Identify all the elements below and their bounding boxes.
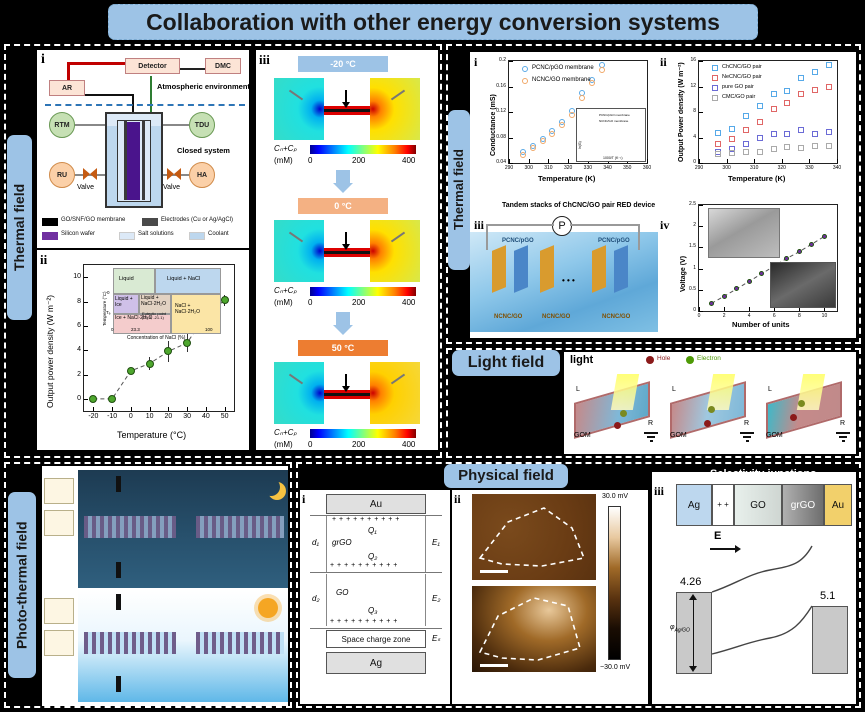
chart-ii-legend-marker-0 bbox=[712, 65, 718, 71]
temp-chip-1: 0 °C bbox=[298, 198, 388, 214]
membrane-day-right bbox=[196, 632, 284, 654]
chart-thermal-right-ii: 2903003103203303400481216 bbox=[698, 60, 838, 164]
light-device-2-right: R bbox=[840, 420, 845, 427]
tandem-wire-r bbox=[638, 224, 640, 250]
ground-icon-0-c bbox=[650, 440, 653, 442]
tandem-top-label-1: PCNC/pGO bbox=[598, 238, 630, 244]
data-point bbox=[809, 242, 814, 247]
colorbar-label-2: Cₙ+Cₚ bbox=[274, 428, 297, 437]
data-point bbox=[784, 100, 790, 106]
layer-grgo-q1: Q₁ bbox=[368, 526, 377, 535]
x-tick-label: 10 bbox=[141, 413, 159, 420]
chart-i-ylabel: Conductance (mS) bbox=[490, 72, 497, 156]
chart-i-inset-ylabel: ln(G) bbox=[578, 119, 582, 149]
panel-label-i: i bbox=[41, 52, 45, 68]
ground-icon-0 bbox=[644, 432, 658, 434]
light-device-1-material: GOM bbox=[670, 432, 687, 439]
valve-left-icon-2 bbox=[90, 168, 97, 180]
tandem-plate-0 bbox=[492, 245, 506, 293]
phase-region-4: NaCl + NaCl·2H₂O bbox=[175, 304, 215, 315]
tandem-plate-3 bbox=[592, 245, 606, 293]
flow-arrow-0 bbox=[336, 170, 350, 184]
section-label-thermal-left: Thermal field bbox=[7, 135, 32, 320]
data-point bbox=[798, 75, 804, 81]
phase-xtick-0: 0 bbox=[111, 327, 114, 332]
chart-iv-inset-device-photo bbox=[770, 262, 836, 308]
x-tick-label: 360 bbox=[638, 165, 656, 171]
light-device-0-material: GOM bbox=[574, 432, 591, 439]
legend-swatch-2 bbox=[42, 232, 58, 240]
y-tick-label: 16 bbox=[687, 57, 696, 63]
chart-i-inset-legend-1: NCNC/GO membrane bbox=[599, 119, 628, 123]
work-function-left: 4.26 bbox=[680, 576, 701, 588]
legend-label-2: Silicon wafer bbox=[61, 231, 95, 237]
divider-d1-bottom bbox=[310, 572, 442, 573]
data-point bbox=[757, 119, 763, 125]
section-label-physical: Physical field bbox=[444, 464, 568, 488]
legend-label-4: Coolant bbox=[208, 231, 229, 237]
data-point bbox=[569, 112, 575, 118]
chart-i-legend-1: NCNC/GO membrane bbox=[532, 77, 591, 83]
data-point bbox=[784, 131, 790, 137]
light-device-2: L R GOM bbox=[760, 370, 852, 448]
x-tick-label: 6 bbox=[765, 313, 783, 319]
layer-grgo-q2: Q₂ bbox=[368, 552, 377, 561]
node-tdu[interactable]: TDU bbox=[189, 112, 215, 138]
panel-label-i-right: i bbox=[474, 55, 477, 70]
x-tick-label: 350 bbox=[618, 165, 636, 171]
ground-icon-2 bbox=[836, 432, 850, 434]
sim-field-0 bbox=[274, 78, 420, 140]
y-tick-label: 0 bbox=[685, 307, 696, 313]
colorbar-label-1: Cₙ+Cₚ bbox=[274, 286, 297, 295]
colorbar-tick-1-1: 200 bbox=[352, 298, 365, 307]
data-point bbox=[540, 138, 546, 144]
y-tick-label: 0.2 bbox=[491, 57, 506, 63]
colorbar-unit-1: (mM) bbox=[274, 298, 293, 307]
colorbar-unit-2: (mM) bbox=[274, 440, 293, 449]
colorbar-tick-0-1: 200 bbox=[352, 156, 365, 165]
afm-scale-bottom: −30.0 mV bbox=[600, 664, 630, 671]
panel-label-iii: iii bbox=[259, 52, 270, 68]
x-tick-label: 40 bbox=[197, 413, 215, 420]
ground-icon-1-c bbox=[746, 440, 749, 442]
data-point bbox=[812, 143, 818, 149]
afm-image-bottom bbox=[472, 586, 596, 672]
chart-iv-ylabel: Voltage (V) bbox=[680, 228, 687, 292]
chart-ii-legend-0: ChCNC/GO pair bbox=[722, 64, 762, 70]
sim-field-1 bbox=[274, 220, 420, 282]
field-label-E: E bbox=[714, 530, 721, 542]
field-arrow-E-head bbox=[735, 545, 741, 553]
colorbar-tick-1-2: 400 bbox=[402, 298, 415, 307]
thermal-left-panel-i: i Detector DMC AR Atmospheric environmen… bbox=[37, 50, 249, 230]
x-tick-label: 0 bbox=[690, 313, 708, 319]
tandem-plate-1 bbox=[514, 245, 528, 293]
data-point bbox=[729, 136, 735, 142]
field-arrow-E bbox=[710, 548, 736, 550]
colorbar-0 bbox=[310, 145, 416, 154]
phase-ytick-1: Tₑ bbox=[106, 310, 110, 315]
colorbar-tick-2-0: 0 bbox=[308, 440, 312, 449]
colorbar-label-0: Cₙ+Cₚ bbox=[274, 144, 297, 153]
ground-icon-0-b bbox=[647, 436, 655, 438]
colorbar-tick-2-2: 400 bbox=[402, 440, 415, 449]
tandem-top-label-0: PCNC/pGO bbox=[502, 238, 534, 244]
x-tick-label: 320 bbox=[559, 165, 577, 171]
label-atmospheric-environment: Atmospheric environment bbox=[157, 82, 250, 91]
y-tick-label: 2 bbox=[68, 371, 81, 378]
phase-region-1: Liquid + NaCl bbox=[167, 276, 200, 282]
meter-P: P bbox=[552, 216, 572, 236]
legend-electron-marker bbox=[686, 356, 694, 364]
photothermal-inset-1 bbox=[44, 510, 74, 536]
node-dmc[interactable]: DMC bbox=[205, 58, 241, 74]
data-point bbox=[599, 67, 605, 73]
photothermal-inset-2 bbox=[44, 598, 74, 624]
light-device-2-left: L bbox=[768, 386, 772, 393]
physical-panel-iii: iii Selectivity junctions Ag + + GO grGO… bbox=[652, 472, 856, 704]
wire-detector-top bbox=[67, 62, 127, 65]
temp-chip-2: 50 °C bbox=[298, 340, 388, 356]
data-point bbox=[826, 62, 832, 68]
thermal-left-panel-iii: iii -20 °C Cₙ+Cₚ (mM) 0 200 400 0 °C Cₙ+… bbox=[256, 50, 438, 450]
photothermal-night-scene bbox=[78, 470, 288, 588]
work-function-right: 5.1 bbox=[820, 590, 835, 602]
phase-eutectic-label: Eutectic point (23.3, -21.1) bbox=[142, 312, 172, 320]
moon-icon bbox=[262, 478, 280, 496]
label-closed-system: Closed system bbox=[177, 146, 230, 155]
x-tick-label: -20 bbox=[84, 413, 102, 420]
tandem-wire-l bbox=[486, 224, 488, 250]
chart-ii-xlabel: Temperature (K) bbox=[728, 174, 785, 183]
chart-i-legend-0: PCNC/pGO membrane bbox=[532, 65, 594, 71]
photothermal-inset-3 bbox=[44, 630, 74, 656]
y-tick-label: 8 bbox=[68, 298, 81, 305]
y-tick-label: 4 bbox=[68, 346, 81, 353]
divider-d2-bottom bbox=[310, 628, 442, 629]
chart-ii-legend-marker-3 bbox=[712, 95, 718, 101]
phase-diagram-inset: Liquid Liquid + NaCl Liquid + Ice Liquid… bbox=[99, 268, 225, 340]
x-tick-label: 20 bbox=[159, 413, 177, 420]
data-point bbox=[826, 84, 832, 90]
page-title: Collaboration with other energy conversi… bbox=[108, 4, 758, 40]
valve-left-icon bbox=[83, 168, 90, 180]
layer-go-name: GO bbox=[336, 588, 348, 597]
light-device-2-material: GOM bbox=[766, 432, 783, 439]
wire-detector-dmc bbox=[177, 68, 207, 70]
stack-go: GO bbox=[734, 484, 782, 526]
tandem-bottom-label-2: NCNC/GO bbox=[602, 314, 630, 320]
plus-row-1: + + + + + + + + + + bbox=[330, 562, 398, 569]
node-detector[interactable]: Detector bbox=[125, 58, 180, 74]
afm-colorbar bbox=[608, 506, 621, 660]
chart-i-legend-marker-1 bbox=[522, 78, 528, 84]
y-tick-label: 8 bbox=[687, 108, 696, 114]
stack-charge-layer: + + bbox=[712, 484, 734, 526]
data-point bbox=[784, 144, 790, 150]
data-point bbox=[826, 143, 832, 149]
physical-panel-i: i Au grGO Q₁ Q₂ + + + + + + + + + + + + … bbox=[300, 490, 450, 704]
data-point bbox=[729, 126, 735, 132]
data-point bbox=[743, 141, 749, 147]
x-tick-label: 290 bbox=[690, 165, 708, 171]
x-tick-label: 310 bbox=[745, 165, 763, 171]
field-e1: E₁ bbox=[432, 538, 440, 547]
y-tick-label: 12 bbox=[687, 83, 696, 89]
legend-swatch-3 bbox=[119, 232, 135, 240]
section-label-thermal-right: Thermal field bbox=[448, 110, 470, 270]
scale-bar-top bbox=[480, 570, 508, 573]
thermal-left-legend: GO/SNF/GO membrane Electrodes (Cu or Ag/… bbox=[37, 214, 249, 248]
data-point bbox=[743, 149, 749, 155]
phase-region-2: Liquid + Ice bbox=[115, 297, 139, 308]
data-point bbox=[771, 146, 777, 152]
tandem-wire-2 bbox=[570, 224, 640, 226]
ground-icon-2-c bbox=[842, 440, 845, 442]
chart-iv-inset-multimeter-photo bbox=[708, 208, 780, 258]
plus-row-0: + + + + + + + + + + bbox=[332, 516, 400, 523]
node-ar[interactable]: AR bbox=[49, 80, 85, 96]
panel-label-ii-physical: ii bbox=[454, 492, 461, 507]
x-tick-label: 340 bbox=[599, 165, 617, 171]
electrode-night-top bbox=[116, 476, 121, 492]
data-point bbox=[709, 301, 714, 306]
chart-i-inset-xlabel: 1000/T (K⁻¹) bbox=[603, 156, 622, 160]
node-rtm[interactable]: RTM bbox=[49, 112, 75, 138]
colorbar-2 bbox=[310, 429, 416, 438]
legend-electron-label: Electron bbox=[697, 355, 721, 362]
field-es: Eₛ bbox=[432, 634, 440, 643]
valve-right-icon-2 bbox=[174, 168, 181, 180]
legend-swatch-1 bbox=[142, 218, 158, 226]
data-point bbox=[771, 106, 777, 112]
data-point bbox=[520, 152, 526, 158]
colorbar-tick-0-2: 400 bbox=[402, 156, 415, 165]
x-tick-label: 0 bbox=[122, 413, 140, 420]
phase-region-0: Liquid bbox=[119, 276, 134, 282]
sun-icon bbox=[258, 598, 278, 618]
thermal-left-panel-ii: ii -20-10010203040500246810 Output power… bbox=[37, 250, 249, 450]
data-point bbox=[729, 150, 735, 156]
membrane-night-left bbox=[84, 516, 176, 538]
band-block-right bbox=[812, 606, 848, 674]
y-tick-label: 0 bbox=[687, 159, 696, 165]
chart-ii-legend-marker-1 bbox=[712, 75, 718, 81]
chart-i-legend-marker-0 bbox=[522, 66, 528, 72]
photothermal-day-scene bbox=[78, 590, 288, 702]
scale-bar-bottom bbox=[480, 664, 508, 667]
colorbar-1 bbox=[310, 287, 416, 296]
legend-hole-label: Hole bbox=[657, 355, 670, 362]
colorbar-unit-0: (mM) bbox=[274, 156, 293, 165]
tandem-bottom-label-1: NCNC/GO bbox=[542, 314, 570, 320]
physical-panel-ii: ii 30.0 mV −30.0 mV bbox=[452, 490, 648, 704]
space-charge-zone: Space charge zone bbox=[326, 630, 426, 648]
stack-ag: Ag bbox=[676, 484, 712, 526]
tandem-caption: Tandem stacks of ChCNC/GO pair RED devic… bbox=[502, 202, 655, 209]
membrane-stack bbox=[127, 122, 140, 200]
chart-i-inset: ln(G) 1000/T (K⁻¹) PCNC/pGO membrane NCN… bbox=[576, 108, 646, 162]
panel-label-i-physical: i bbox=[302, 492, 305, 507]
legend-swatch-0 bbox=[42, 218, 58, 226]
light-device-1: L R GOM bbox=[664, 370, 756, 448]
thickness-d1: d₁ bbox=[312, 538, 319, 547]
thermal-right-panels: i 2903003103203303403503600.040.080.120.… bbox=[470, 52, 856, 338]
chart-ii-legend-3: CMC/GO pair bbox=[722, 94, 755, 100]
phase-xtick-2: 100 bbox=[205, 327, 213, 332]
phase-xlabel: Concentration of NaCl (%) bbox=[127, 335, 185, 341]
data-point bbox=[715, 130, 721, 136]
data-point bbox=[771, 131, 777, 137]
data-point bbox=[743, 127, 749, 133]
y-tick-label: 0 bbox=[68, 395, 81, 402]
barrier-arrow-up bbox=[689, 594, 697, 600]
afm-image-top bbox=[472, 494, 596, 580]
x-tick-label: 310 bbox=[539, 165, 557, 171]
data-point bbox=[771, 91, 777, 97]
temp-chip-0: -20 °C bbox=[298, 56, 388, 72]
data-point bbox=[798, 91, 804, 97]
data-point bbox=[812, 131, 818, 137]
label-valve-right: Valve bbox=[163, 184, 180, 191]
x-tick-label: 290 bbox=[500, 165, 518, 171]
data-point bbox=[530, 145, 536, 151]
barrier-arrow bbox=[693, 598, 694, 668]
divider-dashed bbox=[45, 104, 245, 106]
x-tick-label: 2 bbox=[715, 313, 733, 319]
afm-scale-top: 30.0 mV bbox=[602, 493, 628, 500]
selectivity-junctions-caption: Selectivity junctions bbox=[710, 468, 816, 480]
phase-ytick-0: 0 bbox=[107, 290, 110, 295]
legend-swatch-4 bbox=[189, 232, 205, 240]
data-point bbox=[822, 234, 827, 239]
x-tick-label: 30 bbox=[178, 413, 196, 420]
data-point bbox=[743, 113, 749, 119]
membrane-night-right bbox=[196, 516, 284, 538]
panel-label-iv: iv bbox=[660, 218, 669, 233]
tandem-bottom-label-0: NCNC/GO bbox=[494, 314, 522, 320]
field-e2: E₂ bbox=[432, 594, 440, 603]
wire-tdu bbox=[163, 124, 189, 126]
data-point bbox=[798, 145, 804, 151]
electrode-day-top bbox=[116, 594, 121, 610]
y-tick-label: 10 bbox=[68, 273, 81, 280]
electrode-night-bottom bbox=[116, 562, 121, 578]
chart-ylabel: Output power density (W m⁻²) bbox=[45, 268, 55, 408]
legend-label-0: GO/SNF/GO membrane bbox=[61, 217, 125, 223]
ground-icon-1-b bbox=[743, 436, 751, 438]
electrode-right bbox=[142, 120, 145, 200]
light-device-0-left: L bbox=[576, 386, 580, 393]
light-device-0-right: R bbox=[648, 420, 653, 427]
colorbar-tick-1-0: 0 bbox=[308, 298, 312, 307]
panel-label-ii-right: ii bbox=[660, 55, 667, 70]
photothermal-panel bbox=[42, 466, 288, 706]
layer-grgo-name: grGO bbox=[332, 538, 352, 547]
electrode-au: Au bbox=[326, 494, 426, 514]
thickness-d2: d₂ bbox=[312, 594, 320, 603]
legend-label-1: Electrodes (Cu or Ag/AgCl) bbox=[161, 217, 233, 223]
stack-grgo: grGO bbox=[782, 484, 824, 526]
colorbar-tick-2-1: 200 bbox=[352, 440, 365, 449]
legend-hole-marker bbox=[646, 356, 654, 364]
x-tick-label: 330 bbox=[800, 165, 818, 171]
tandem-plate-2 bbox=[540, 245, 554, 293]
chart-iv-xlabel: Number of units bbox=[732, 320, 790, 329]
x-tick-label: 330 bbox=[579, 165, 597, 171]
data-point bbox=[549, 131, 555, 137]
x-tick-label: 10 bbox=[815, 313, 833, 319]
data-point bbox=[559, 122, 565, 128]
chart-ii-legend-marker-2 bbox=[712, 85, 718, 91]
stack-au: Au bbox=[824, 484, 852, 526]
data-point bbox=[146, 360, 154, 368]
section-label-light: Light field bbox=[452, 350, 560, 376]
x-tick-label: 8 bbox=[790, 313, 808, 319]
sim-field-2 bbox=[274, 362, 420, 424]
plus-row-2: + + + + + + + + + + bbox=[330, 618, 398, 625]
data-point bbox=[715, 141, 721, 147]
chart-xlabel: Temperature (°C) bbox=[117, 430, 186, 440]
data-point bbox=[797, 249, 802, 254]
ground-icon-2-b bbox=[839, 436, 847, 438]
flow-arrow-0-head bbox=[333, 183, 353, 193]
flow-arrow-1 bbox=[336, 312, 350, 326]
tandem-ellipsis: • • • bbox=[562, 276, 575, 285]
x-tick-label: 4 bbox=[740, 313, 758, 319]
electrode-day-bottom bbox=[116, 676, 121, 692]
data-point bbox=[108, 395, 116, 403]
phase-xtick-1: 23.3 bbox=[131, 327, 140, 332]
tandem-plate-4 bbox=[614, 245, 628, 293]
x-tick-label: 300 bbox=[718, 165, 736, 171]
x-tick-label: 340 bbox=[828, 165, 846, 171]
light-field-panel: light Hole Electron L R GOM L R GOM L R … bbox=[564, 352, 856, 454]
data-point bbox=[757, 149, 763, 155]
chart-ii-ylabel: Output Power density (W m⁻²) bbox=[678, 66, 686, 162]
phase-region-3: Liquid + NaCl·2H₂O bbox=[141, 296, 171, 307]
light-device-1-left: L bbox=[672, 386, 676, 393]
electrode-ag: Ag bbox=[326, 652, 426, 674]
valve-right-icon bbox=[167, 168, 174, 180]
chart-i-inset-legend-0: PCNC/pGO membrane bbox=[599, 113, 630, 117]
light-device-1-right: R bbox=[744, 420, 749, 427]
barrier-sub: Ag/GO bbox=[675, 627, 690, 633]
data-point bbox=[722, 294, 727, 299]
data-point bbox=[826, 129, 832, 135]
ground-icon-1 bbox=[740, 432, 754, 434]
data-point bbox=[784, 88, 790, 94]
colorbar-tick-0-0: 0 bbox=[308, 156, 312, 165]
panel-label-iii-physical: iii bbox=[654, 484, 664, 499]
node-ha[interactable]: HA bbox=[189, 162, 215, 188]
chart-i-xlabel: Temperature (K) bbox=[538, 174, 595, 183]
wire-rtm bbox=[75, 124, 105, 126]
x-tick-label: -10 bbox=[103, 413, 121, 420]
flow-arrow-1-head bbox=[333, 325, 353, 335]
layer-go-q3: Q₃ bbox=[368, 606, 377, 615]
data-point bbox=[127, 367, 135, 375]
data-point bbox=[757, 135, 763, 141]
chart-ii-legend-1: NeCNC/GO pair bbox=[722, 74, 762, 80]
data-point bbox=[798, 127, 804, 133]
light-label: light bbox=[570, 354, 593, 366]
photothermal-inset-0 bbox=[44, 478, 74, 504]
node-ru[interactable]: RU bbox=[49, 162, 75, 188]
y-tick-label: 6 bbox=[68, 322, 81, 329]
data-point bbox=[579, 95, 585, 101]
